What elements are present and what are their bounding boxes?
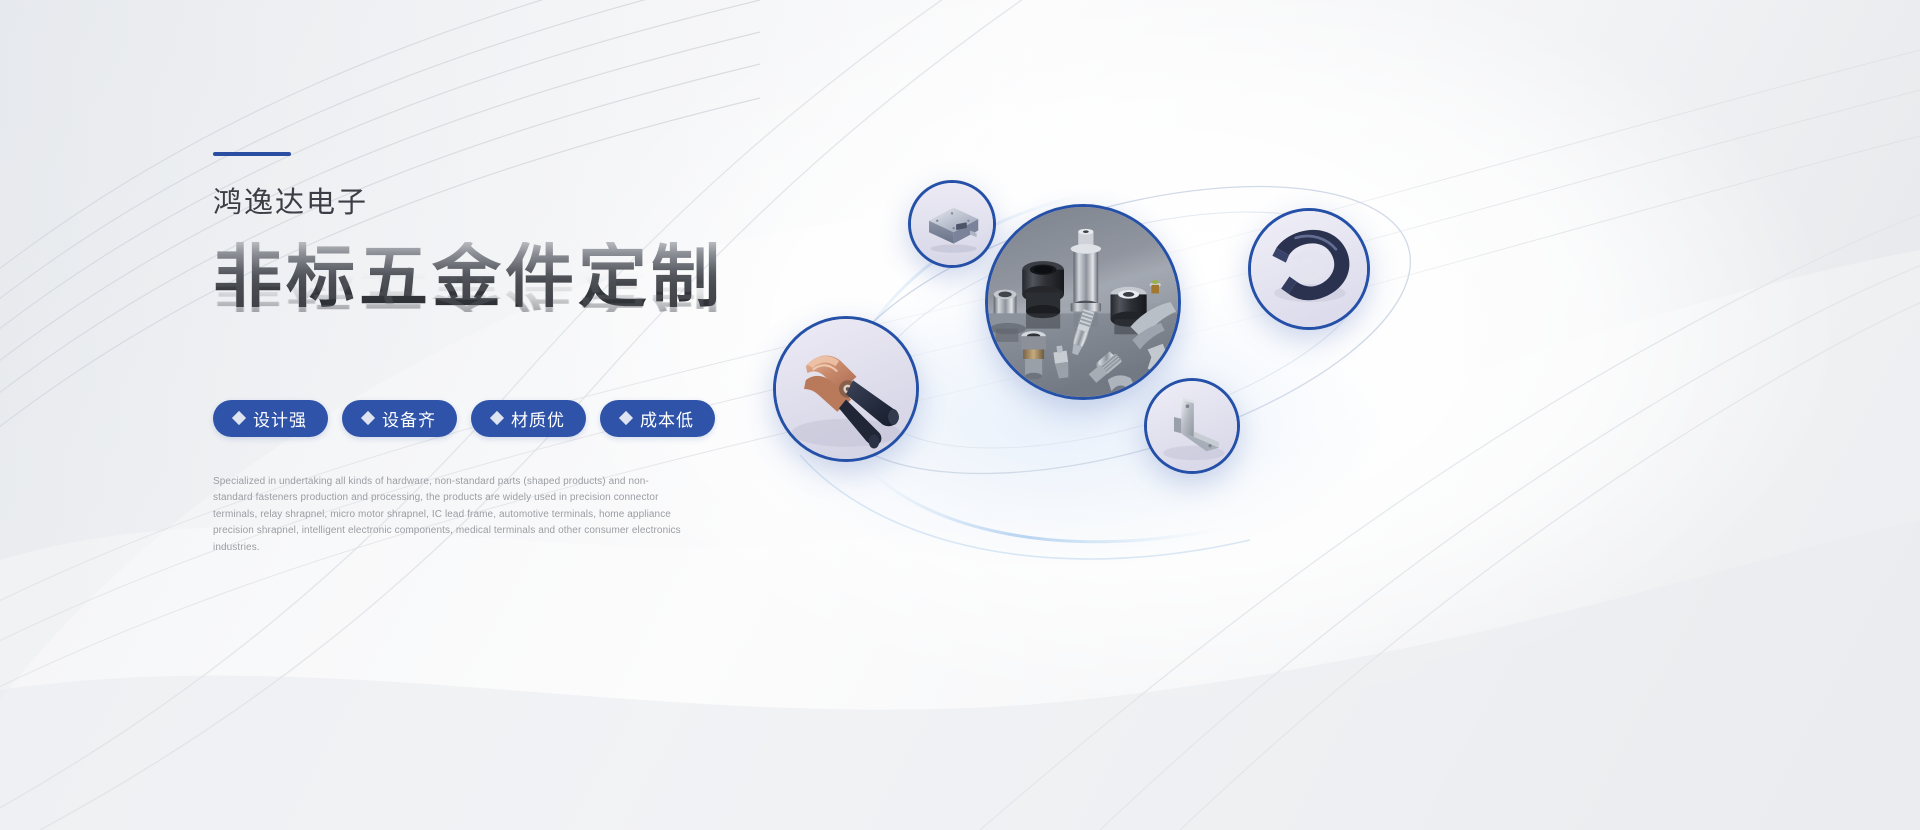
sheet-metal-bracket-image xyxy=(1147,381,1237,471)
feature-pill-label: 材质优 xyxy=(511,406,565,431)
feature-pill-equipment[interactable]: 设备齐 xyxy=(342,400,457,437)
product-circle-metal-enclosure-box[interactable] xyxy=(908,180,996,268)
diamond-icon xyxy=(619,411,633,425)
copper-battery-clamp-image xyxy=(776,319,916,459)
e-clip-retaining-ring-image xyxy=(1251,211,1367,327)
product-circle-battery-clamp[interactable] xyxy=(773,316,919,462)
metal-enclosure-box-image xyxy=(911,183,993,265)
feature-pill-label: 设备齐 xyxy=(382,406,436,431)
diamond-icon xyxy=(490,411,504,425)
diamond-icon xyxy=(232,411,246,425)
feature-pill-material[interactable]: 材质优 xyxy=(471,400,586,437)
feature-pill-cost[interactable]: 成本低 xyxy=(600,400,715,437)
product-showcase-cluster xyxy=(740,140,1460,540)
hero-banner: 鸿逸达电子 非标五金件定制 非标五金件定制 设计强 设备齐 材质优 成本低 xyxy=(0,0,1920,830)
product-circle-e-clip-retaining-ring[interactable] xyxy=(1248,208,1370,330)
company-description: Specialized in undertaking all kinds of … xyxy=(213,474,683,557)
feature-pill-label: 成本低 xyxy=(640,406,694,431)
feature-pill-label: 设计强 xyxy=(253,406,307,431)
diamond-icon xyxy=(361,411,375,425)
accent-bar-decoration xyxy=(213,152,291,156)
product-circle-precision-machined-parts[interactable] xyxy=(985,204,1181,400)
feature-pill-design[interactable]: 设计强 xyxy=(213,400,328,437)
precision-machined-parts-image xyxy=(988,207,1178,397)
product-circle-sheet-metal-bracket[interactable] xyxy=(1144,378,1240,474)
